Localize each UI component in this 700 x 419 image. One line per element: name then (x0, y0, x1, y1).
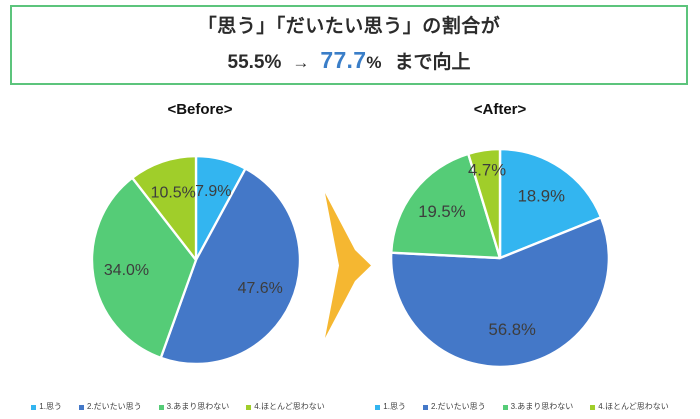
legend-label: 3.あまり思わない (511, 403, 574, 411)
pie-after-svg: 18.9%56.8%19.5%4.7% (390, 148, 610, 368)
stat-after-value: 77.7 (320, 46, 366, 75)
chart-title-before: <Before> (120, 101, 280, 118)
pie-chart-before: 7.9%47.6%34.0%10.5% (91, 155, 301, 365)
headline-primary: 「思う」「だいたい思う」の割合が (198, 15, 501, 39)
transition-arrow-icon (325, 193, 371, 338)
legend-label: 3.あまり思わない (167, 403, 230, 411)
legend-item[interactable]: 3.あまり思わない (503, 403, 574, 411)
legend-item[interactable]: 3.あまり思わない (159, 403, 230, 411)
legend-swatch-1-icon (375, 405, 380, 410)
legend-swatch-3-icon (503, 405, 508, 410)
legend-swatch-3-icon (159, 405, 164, 410)
legend-item[interactable]: 1.思う (375, 403, 406, 411)
legend-label: 2.だいたい思う (87, 403, 142, 411)
pie-slice-label: 10.5% (151, 185, 196, 202)
legend-label: 1.思う (383, 403, 406, 411)
pie-slice-label: 34.0% (104, 262, 149, 279)
headline-suffix: まで向上 (394, 51, 470, 75)
legend-after: 1.思う 2.だいたい思う 3.あまり思わない 4.ほとんど思わない (352, 399, 692, 415)
legend-swatch-4-icon (590, 405, 595, 410)
legend-label: 2.だいたい思う (431, 403, 486, 411)
legend-item[interactable]: 2.だいたい思う (79, 403, 142, 411)
chart-title-after: <After> (420, 101, 580, 118)
pie-slice-label: 56.8% (489, 320, 537, 339)
pie-slice-label: 4.7% (468, 160, 506, 179)
pie-chart-after: 18.9%56.8%19.5%4.7% (390, 148, 610, 368)
chevron-right-arrow-icon (325, 193, 371, 338)
legend-swatch-1-icon (31, 405, 36, 410)
legend-item[interactable]: 4.ほとんど思わない (590, 403, 668, 411)
headline-callout-box: 「思う」「だいたい思う」の割合が 55.5% → 77.7 % まで向上 (10, 5, 688, 85)
legend-before: 1.思う 2.だいたい思う 3.あまり思わない 4.ほとんど思わない (8, 399, 348, 415)
stat-after-percent-sign: % (366, 52, 381, 73)
pie-before-svg: 7.9%47.6%34.0%10.5% (91, 155, 301, 365)
stat-before-value: 55.5% (228, 51, 282, 75)
legend-label: 1.思う (39, 403, 62, 411)
pie-slice-label: 18.9% (518, 186, 566, 205)
right-arrow-icon: → (292, 52, 309, 73)
legend-item[interactable]: 1.思う (31, 403, 62, 411)
headline-stat-line: 55.5% → 77.7 % まで向上 (228, 46, 471, 75)
legend-item[interactable]: 4.ほとんど思わない (246, 403, 324, 411)
legend-swatch-2-icon (79, 405, 84, 410)
legend-label: 4.ほとんど思わない (254, 403, 324, 411)
pie-slice-label: 7.9% (195, 183, 231, 200)
legend-item[interactable]: 2.だいたい思う (423, 403, 486, 411)
legend-swatch-4-icon (246, 405, 251, 410)
pie-slice-label: 19.5% (418, 202, 466, 221)
pie-slice-label: 47.6% (238, 280, 283, 297)
legend-label: 4.ほとんど思わない (598, 403, 668, 411)
legend-swatch-2-icon (423, 405, 428, 410)
